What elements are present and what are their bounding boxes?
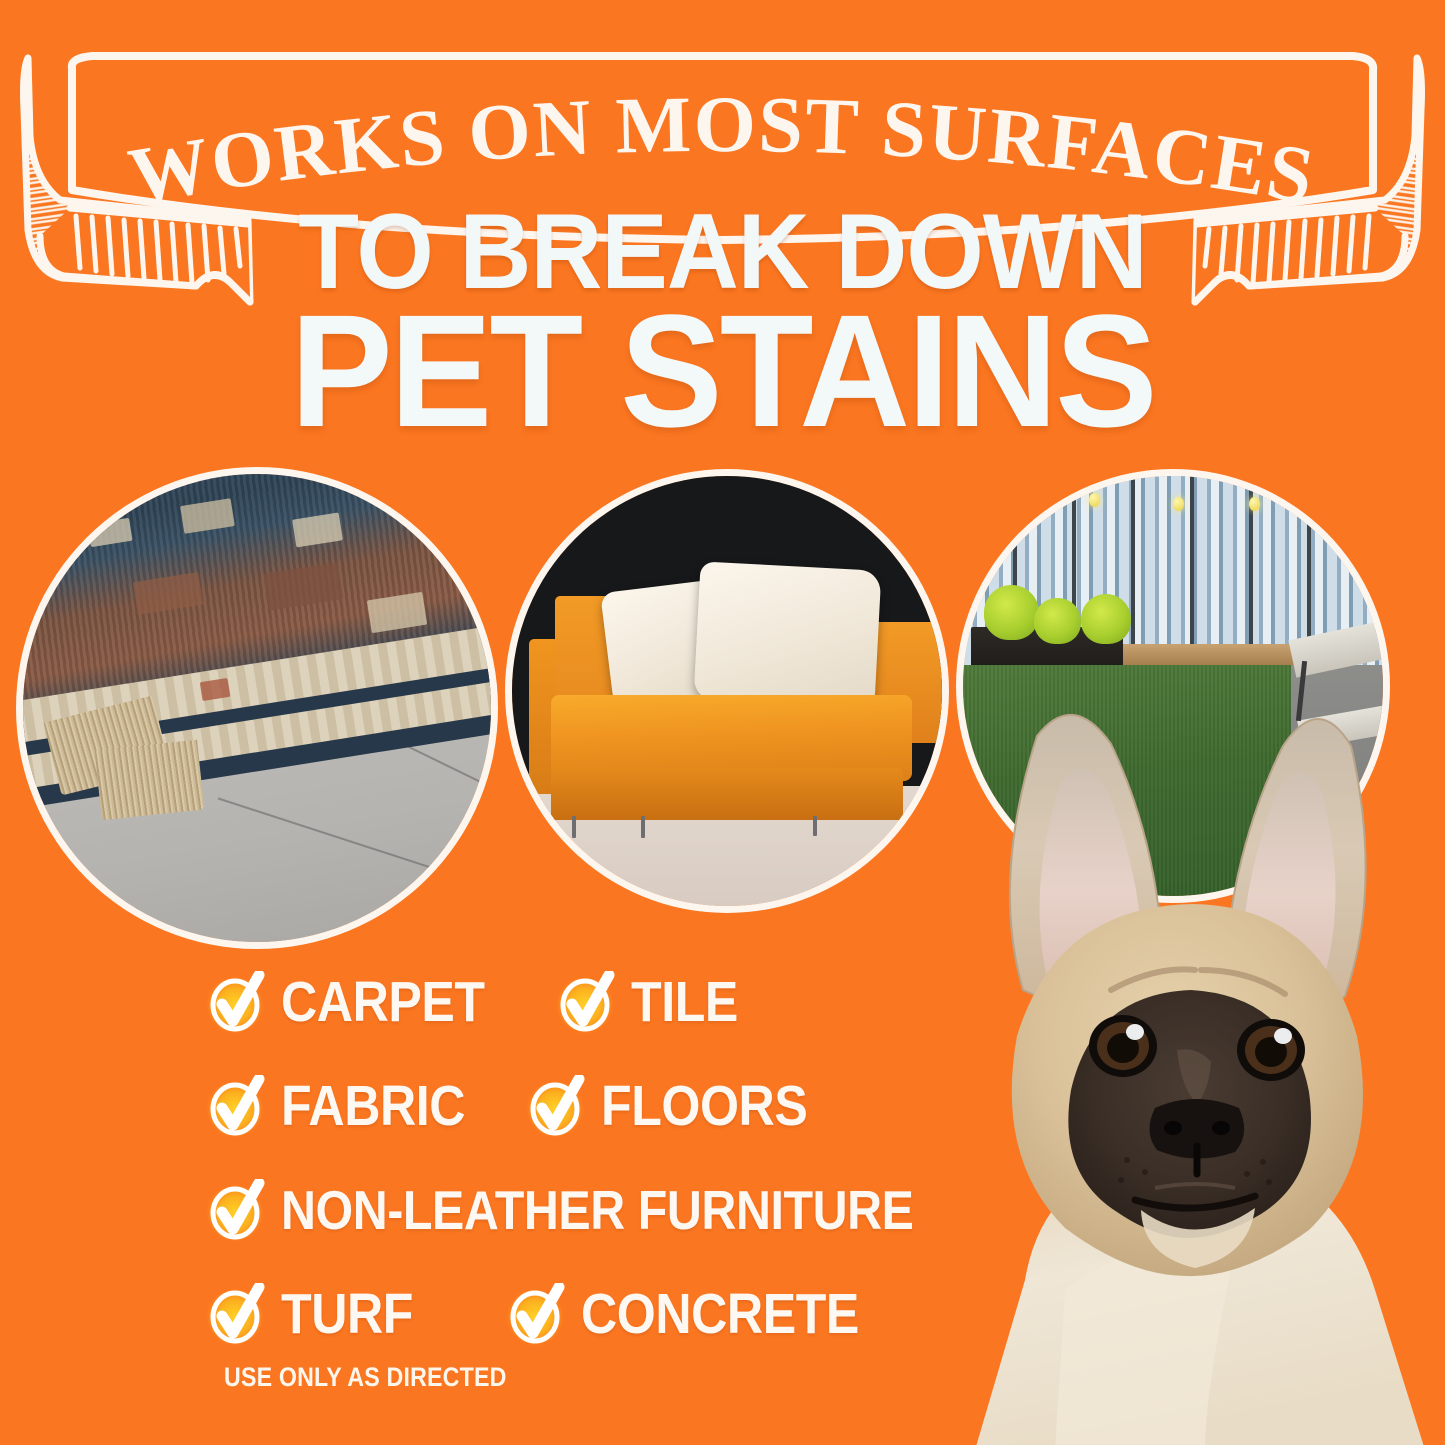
list-item[interactable]: FLOORS — [525, 1075, 836, 1137]
french-bulldog-mascot — [905, 690, 1445, 1445]
fine-print: USE ONLY AS DIRECTED — [224, 1362, 507, 1393]
dog-left-eye — [1089, 1015, 1157, 1077]
list-item[interactable]: FABRIC — [205, 1075, 525, 1137]
list-item-label: TURF — [281, 1286, 413, 1343]
check-circle-icon — [505, 1283, 567, 1345]
list-item-label: FABRIC — [281, 1078, 465, 1135]
check-circle-icon — [205, 1075, 267, 1137]
list-item-label: CONCRETE — [581, 1286, 859, 1343]
check-circle-icon — [205, 971, 267, 1033]
photo-rug-circle — [23, 474, 491, 942]
list-item-label: TILE — [631, 974, 738, 1031]
list-item[interactable]: NON-LEATHER FURNITURE — [205, 1179, 1000, 1241]
list-item[interactable]: CARPET — [205, 971, 555, 1033]
photo-sofa-circle — [512, 476, 942, 906]
list-item-label: FLOORS — [601, 1078, 807, 1135]
list-item-label: CARPET — [281, 974, 485, 1031]
dog-right-eye — [1237, 1019, 1305, 1081]
check-circle-icon — [525, 1075, 587, 1137]
infographic-canvas: WORKS ON MOST SURFACES TO BREAK DOWN PET… — [0, 0, 1445, 1445]
headline-block: TO BREAK DOWN PET STAINS — [0, 200, 1445, 446]
list-item[interactable]: CONCRETE — [505, 1283, 897, 1345]
headline-line-2: PET STAINS — [29, 297, 1416, 446]
list-item[interactable]: TILE — [555, 971, 753, 1033]
list-item-label: NON-LEATHER FURNITURE — [281, 1183, 913, 1238]
check-circle-icon — [555, 971, 617, 1033]
check-circle-icon — [205, 1179, 267, 1241]
check-circle-icon — [205, 1283, 267, 1345]
list-item[interactable]: TURF — [205, 1283, 505, 1345]
